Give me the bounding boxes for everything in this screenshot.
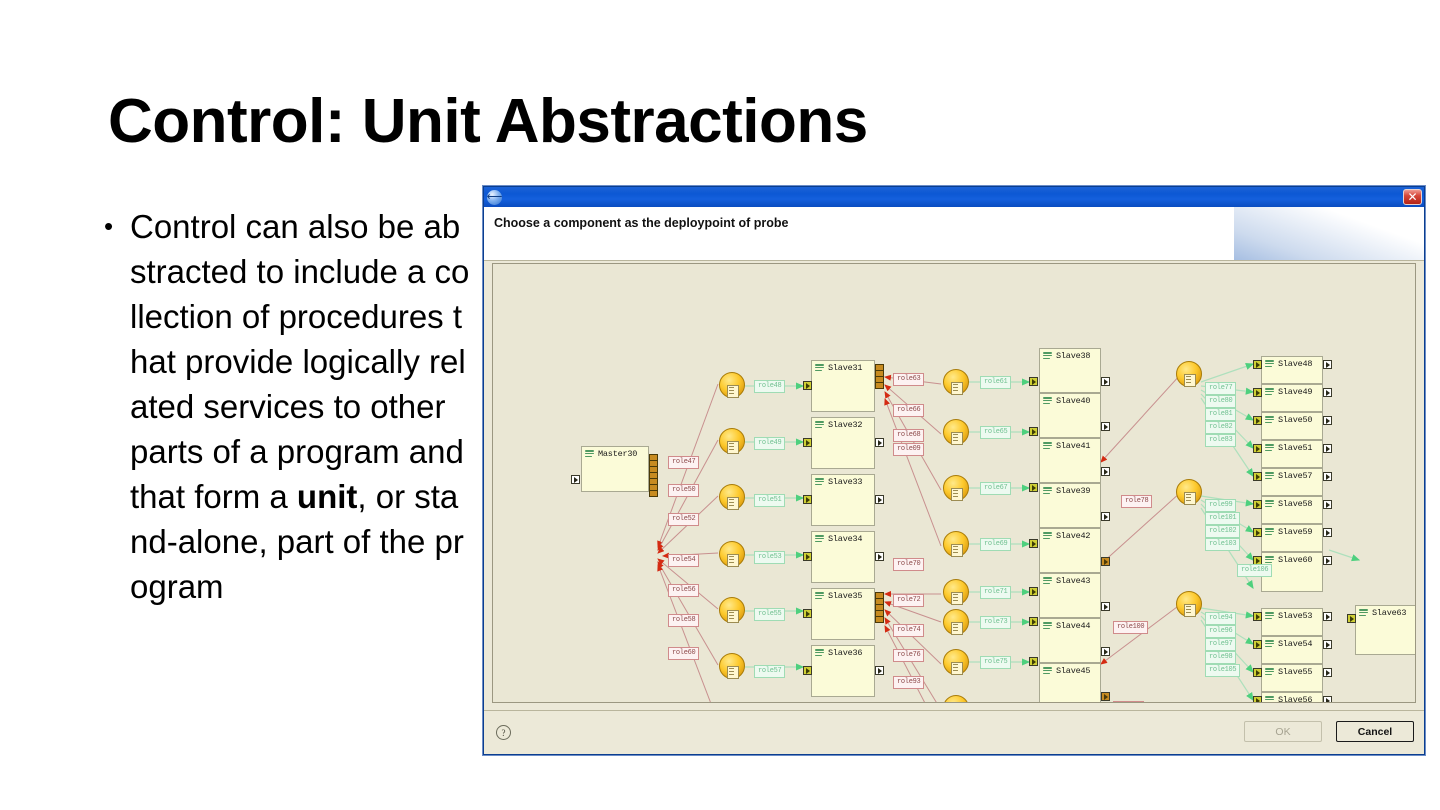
back-arrow-icon: ⟵ (487, 190, 502, 205)
role-label[interactable]: role93 (893, 676, 924, 689)
port-out[interactable] (1323, 472, 1332, 481)
role-label[interactable]: role51 (754, 494, 785, 507)
component-icon (815, 364, 824, 373)
port-out[interactable] (1101, 512, 1110, 521)
role-label[interactable]: role67 (980, 482, 1011, 495)
list-item: • Control can also be abstracted to incl… (104, 204, 476, 609)
component-icon (1265, 528, 1274, 537)
bullet-text: Control can also be abstracted to includ… (130, 204, 470, 609)
port-out[interactable] (1323, 556, 1332, 565)
port-in[interactable] (803, 609, 812, 618)
role-label[interactable]: role70 (893, 558, 924, 571)
port-out[interactable] (1323, 416, 1332, 425)
role-label[interactable]: role73 (980, 616, 1011, 629)
port-out[interactable] (1101, 647, 1110, 656)
component-icon (1043, 532, 1052, 541)
component-slave[interactable]: Slave40 (1039, 393, 1101, 438)
component-icon (1043, 352, 1052, 361)
component-icon (815, 478, 824, 487)
role-label[interactable]: role94 (1205, 612, 1236, 625)
component-slave[interactable]: Slave51 (1261, 440, 1323, 468)
port-out[interactable] (1323, 444, 1332, 453)
role-label[interactable]: role102 (1205, 525, 1240, 538)
component-master[interactable]: Master30 (581, 446, 649, 492)
component-slave[interactable]: Slave36 (811, 645, 875, 697)
actor-node[interactable] (943, 649, 969, 675)
close-icon[interactable]: ✕ (1403, 189, 1422, 205)
role-label[interactable]: role56 (668, 584, 699, 597)
role-label[interactable]: role95 (1113, 701, 1144, 703)
bullet-text-part1: Control can also be abstracted to includ… (130, 208, 469, 515)
port-out[interactable] (1101, 602, 1110, 611)
actor-node[interactable] (719, 653, 745, 679)
port-in[interactable] (1101, 557, 1110, 566)
port-out[interactable] (1323, 360, 1332, 369)
actor-node[interactable] (1176, 591, 1202, 617)
port-in[interactable] (1253, 360, 1262, 369)
role-label[interactable]: role74 (893, 624, 924, 637)
actor-node[interactable] (943, 609, 969, 635)
port-in[interactable] (1253, 416, 1262, 425)
port-out[interactable] (1323, 528, 1332, 537)
component-slave-isolated[interactable]: Slave63Slave63 (1355, 605, 1416, 655)
diagram-canvas[interactable]: Master30 Slave31 Slav (493, 264, 1415, 702)
port-in[interactable] (1253, 612, 1262, 621)
role-label[interactable]: role69 (980, 538, 1011, 551)
actor-node[interactable] (1176, 361, 1202, 387)
role-label[interactable]: role65 (980, 426, 1011, 439)
component-icon (1043, 397, 1052, 406)
header-gloss-decoration (1234, 207, 1424, 261)
port-out[interactable] (1323, 668, 1332, 677)
role-label[interactable]: role52 (668, 513, 699, 526)
port-in[interactable] (1029, 427, 1038, 436)
port-in[interactable] (1101, 692, 1110, 701)
component-icon (815, 421, 824, 430)
component-icon (815, 649, 824, 658)
actor-node[interactable] (943, 579, 969, 605)
component-icon (1265, 500, 1274, 509)
role-label[interactable]: role77 (980, 702, 1011, 703)
component-icon (1265, 640, 1274, 649)
actor-node[interactable] (719, 541, 745, 567)
role-label[interactable]: role68 (893, 429, 924, 442)
role-label[interactable]: role47 (668, 456, 699, 469)
help-icon[interactable]: ? (496, 725, 511, 740)
port-out[interactable] (1323, 388, 1332, 397)
port-out[interactable] (875, 438, 884, 447)
role-label[interactable]: role80 (1205, 395, 1236, 408)
component-icon (1043, 442, 1052, 451)
actor-node[interactable] (943, 475, 969, 501)
port-in[interactable] (875, 382, 884, 389)
port-in[interactable] (1253, 640, 1262, 649)
port-in[interactable] (803, 552, 812, 561)
component-icon (1043, 487, 1052, 496)
port-in[interactable] (803, 666, 812, 675)
role-label[interactable]: role53 (754, 551, 785, 564)
actor-node[interactable] (719, 597, 745, 623)
component-icon (815, 535, 824, 544)
dialog-window: ⟵ ✕ Choose a component as the deploypoin… (483, 186, 1425, 755)
role-label[interactable]: role103 (1205, 538, 1240, 551)
port-in[interactable] (1029, 483, 1038, 492)
component-icon (1265, 416, 1274, 425)
port-in[interactable] (1029, 377, 1038, 386)
component-slave[interactable]: Slave54 (1261, 636, 1323, 664)
component-slave[interactable]: Slave44 (1039, 618, 1101, 663)
component-icon (815, 592, 824, 601)
component-slave[interactable]: Slave35 (811, 588, 875, 640)
actor-node[interactable] (719, 484, 745, 510)
role-label[interactable]: role83 (1205, 434, 1236, 447)
dialog-header: Choose a component as the deploypoint of… (484, 207, 1424, 261)
port-in[interactable] (875, 616, 884, 623)
role-label[interactable]: role61 (980, 376, 1011, 389)
bullet-list: • Control can also be abstracted to incl… (104, 204, 476, 609)
port-in[interactable] (1029, 657, 1038, 666)
port-in[interactable] (1029, 587, 1038, 596)
port-in[interactable] (803, 381, 812, 390)
dialog-titlebar[interactable]: ⟵ ✕ (484, 187, 1424, 207)
component-icon (1043, 622, 1052, 631)
port-in[interactable] (1347, 614, 1356, 623)
ok-button[interactable]: OK (1244, 721, 1322, 742)
port-stack-slave35[interactable] (875, 592, 884, 622)
component-slave[interactable]: Slave43 (1039, 573, 1101, 618)
role-label[interactable]: role75 (980, 656, 1011, 669)
actor-node[interactable] (719, 428, 745, 454)
slide-root: Control: Unit Abstractions • Control can… (0, 0, 1440, 810)
role-label[interactable]: role106 (1237, 564, 1272, 577)
role-label[interactable]: role78 (1121, 495, 1152, 508)
bullet-marker: • (104, 204, 130, 249)
port-out[interactable] (1323, 640, 1332, 649)
bullet-text-emphasis: unit (297, 478, 357, 515)
actor-node[interactable] (1176, 479, 1202, 505)
component-icon (1265, 696, 1274, 703)
role-label[interactable]: role97 (1205, 638, 1236, 651)
component-slave[interactable]: Slave49 (1261, 384, 1323, 412)
port-stack-slave31[interactable] (875, 364, 884, 388)
component-icon (1265, 612, 1274, 621)
port-out[interactable] (1323, 696, 1332, 703)
role-label[interactable]: role96 (1205, 625, 1236, 638)
page-title: Control: Unit Abstractions (108, 86, 868, 157)
cancel-button[interactable]: Cancel (1336, 721, 1414, 742)
component-slave[interactable]: Slave41 (1039, 438, 1101, 483)
component-slave[interactable]: Slave55 (1261, 664, 1323, 692)
component-icon (1265, 444, 1274, 453)
role-label[interactable]: role105 (1205, 664, 1240, 677)
role-label[interactable]: role71 (980, 586, 1011, 599)
role-label[interactable]: role63 (893, 373, 924, 386)
role-label[interactable]: role98 (1205, 651, 1236, 664)
port-out[interactable] (875, 495, 884, 504)
port-out[interactable] (571, 475, 580, 484)
component-icon (1265, 388, 1274, 397)
port-out[interactable] (1101, 422, 1110, 431)
role-label[interactable]: role49 (754, 437, 785, 450)
port-in[interactable] (1253, 668, 1262, 677)
component-slave[interactable]: Slave31 (811, 360, 875, 412)
dialog-button-bar: ? OK Cancel (484, 710, 1424, 754)
role-label[interactable]: role55 (754, 608, 785, 621)
port-stack-master[interactable] (649, 454, 658, 496)
port-out[interactable] (1101, 377, 1110, 386)
port-out[interactable] (875, 552, 884, 561)
diagram-canvas-scroll[interactable]: Master30 Slave31 Slav (492, 263, 1416, 703)
role-label[interactable]: role48 (754, 380, 785, 393)
actor-node[interactable] (943, 419, 969, 445)
port-in[interactable] (1253, 388, 1262, 397)
component-slave[interactable]: Slave50 (1261, 412, 1323, 440)
role-label[interactable]: role76 (893, 649, 924, 662)
port-in[interactable] (803, 438, 812, 447)
component-slave[interactable]: Slave39 (1039, 483, 1101, 528)
port-in[interactable] (1253, 528, 1262, 537)
component-slave[interactable]: Slave38 (1039, 348, 1101, 393)
role-label[interactable]: role54 (668, 554, 699, 567)
role-label[interactable]: role99 (1205, 499, 1236, 512)
port-out[interactable] (875, 666, 884, 675)
component-slave[interactable]: Slave58 (1261, 496, 1323, 524)
actor-node[interactable] (719, 372, 745, 398)
component-slave[interactable]: Slave45 (1039, 663, 1101, 703)
component-slave[interactable]: Slave53 (1261, 608, 1323, 636)
component-slave[interactable]: Slave37 (811, 702, 875, 703)
port-in[interactable] (1253, 500, 1262, 509)
role-label[interactable]: role60 (668, 647, 699, 660)
component-icon (1265, 668, 1274, 677)
component-icon (1265, 360, 1274, 369)
component-icon (585, 450, 594, 459)
component-slave[interactable]: Slave59 (1261, 524, 1323, 552)
port-in[interactable] (1029, 617, 1038, 626)
port-in[interactable] (803, 495, 812, 504)
component-icon (1265, 472, 1274, 481)
role-label[interactable]: role82 (1205, 421, 1236, 434)
role-label[interactable]: role72 (893, 594, 924, 607)
port-out[interactable] (1323, 500, 1332, 509)
actor-node[interactable] (943, 369, 969, 395)
role-label[interactable]: role66 (893, 404, 924, 417)
component-slave[interactable]: Slave42 (1039, 528, 1101, 573)
role-label[interactable]: role81 (1205, 408, 1236, 421)
role-label[interactable]: role58 (668, 614, 699, 627)
component-slave[interactable]: Slave48 (1261, 356, 1323, 384)
component-slave[interactable]: Slave33 (811, 474, 875, 526)
role-label[interactable]: role57 (754, 665, 785, 678)
component-icon (1359, 609, 1368, 618)
role-label[interactable]: role77 (1205, 382, 1236, 395)
actor-node[interactable] (943, 531, 969, 557)
role-label[interactable]: role100 (1113, 621, 1148, 634)
role-label[interactable]: role50 (668, 484, 699, 497)
component-slave[interactable]: Slave32 (811, 417, 875, 469)
component-icon (1043, 577, 1052, 586)
component-slave[interactable]: Slave56 (1261, 692, 1323, 703)
port-in[interactable] (1029, 539, 1038, 548)
role-label[interactable]: role09 (893, 443, 924, 456)
component-slave[interactable]: Slave34 (811, 531, 875, 583)
port-in[interactable] (1253, 472, 1262, 481)
port-out[interactable] (1323, 612, 1332, 621)
port-in[interactable] (649, 490, 658, 497)
component-icon (1043, 667, 1052, 676)
component-slave[interactable]: Slave57 (1261, 468, 1323, 496)
role-label[interactable]: role101 (1205, 512, 1240, 525)
port-out[interactable] (1101, 467, 1110, 476)
port-in[interactable] (1253, 444, 1262, 453)
port-in[interactable] (1253, 696, 1262, 703)
